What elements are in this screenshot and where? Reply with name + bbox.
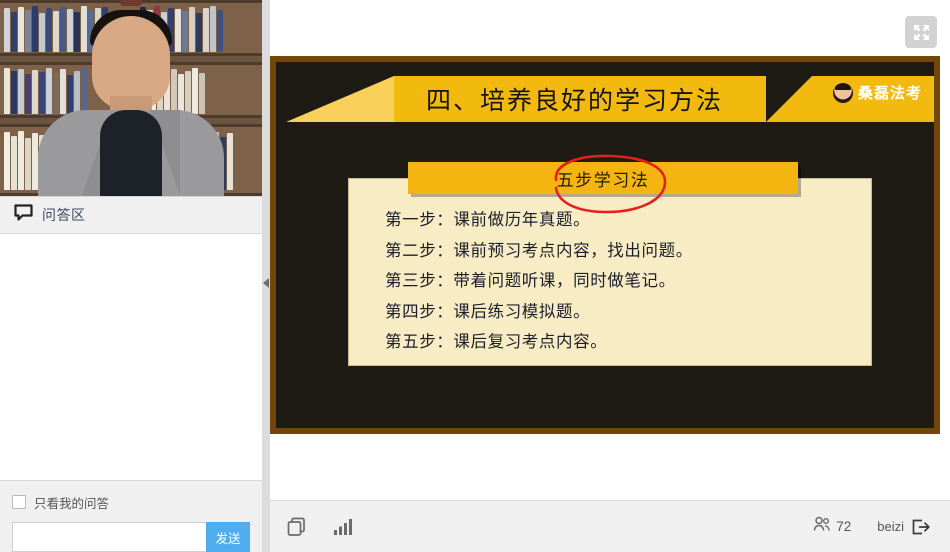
- brand-name: 桑磊法考: [858, 82, 922, 103]
- slide-subtitle: 五步学习法: [557, 166, 650, 191]
- qa-section-header: 问答区: [0, 196, 262, 234]
- people-icon: [813, 516, 831, 537]
- only-my-qa-label: 只看我的问答: [34, 493, 109, 512]
- presenter-figure: [36, 46, 226, 196]
- step-line: 第三步：带着问题听课，同时做笔记。: [385, 266, 871, 297]
- fullscreen-expand-icon[interactable]: [905, 16, 937, 48]
- title-banner-left-chevron: [286, 76, 394, 122]
- step-line: 第一步：课前做历年真题。: [385, 205, 871, 236]
- step-line: 第四步：课后练习模拟题。: [385, 297, 871, 328]
- step-line: 第五步：课后复习考点内容。: [385, 327, 871, 358]
- slide-subtitle-bar: 五步学习法: [408, 162, 798, 194]
- presenter-video[interactable]: [0, 0, 262, 196]
- slide-body: 四、培养良好的学习方法 桑磊法考 第一步：课前做历年真题。 第二步：课前预习考点…: [276, 62, 934, 428]
- slide-content-box: 第一步：课前做历年真题。 第二步：课前预习考点内容，找出问题。 第三步：带着问题…: [348, 178, 872, 366]
- current-user-name: beizi: [877, 519, 904, 534]
- speech-bubble-icon: [14, 204, 33, 226]
- logout-arrow-icon[interactable]: [911, 518, 930, 536]
- title-banner-right-notch: [766, 76, 812, 122]
- brand-avatar-icon: [833, 83, 853, 103]
- presenter-blazer: [38, 110, 224, 196]
- bottom-toolbar: 72 beizi: [270, 500, 950, 552]
- qa-message-list[interactable]: [0, 234, 262, 480]
- copy-pages-icon[interactable]: [286, 516, 307, 537]
- collapse-left-arrow-icon[interactable]: [263, 278, 269, 288]
- qa-footer: 只看我的问答 发送: [0, 480, 262, 552]
- stage-canvas: 四、培养良好的学习方法 桑磊法考 第一步：课前做历年真题。 第二步：课前预习考点…: [270, 0, 950, 500]
- filter-my-questions-row[interactable]: 只看我的问答: [12, 491, 250, 513]
- slide-title-banner: 四、培养良好的学习方法 桑磊法考: [276, 76, 934, 122]
- send-button[interactable]: 发送: [206, 522, 250, 552]
- qa-section-title: 问答区: [42, 205, 86, 225]
- step-line: 第二步：课前预习考点内容，找出问题。: [385, 236, 871, 267]
- presentation-stage: 四、培养良好的学习方法 桑磊法考 第一步：课前做历年真题。 第二步：课前预习考点…: [270, 0, 950, 552]
- qa-input-row: 发送: [12, 522, 250, 552]
- toolbar-right-group: 72 beizi: [813, 516, 930, 537]
- panel-divider: [262, 0, 270, 552]
- presenter-mouth: [120, 0, 142, 6]
- only-my-qa-checkbox[interactable]: [12, 495, 26, 509]
- sidebar: 问答区 只看我的问答 发送: [0, 0, 262, 552]
- slide-title: 四、培养良好的学习方法: [426, 76, 723, 122]
- brand-logo: 桑磊法考: [833, 82, 922, 103]
- current-user[interactable]: beizi: [877, 518, 930, 536]
- live-class-window: 问答区 只看我的问答 发送: [0, 0, 950, 552]
- participant-count-value: 72: [836, 519, 851, 534]
- signal-bars-icon[interactable]: [333, 517, 354, 536]
- toolbar-left-group: [286, 516, 354, 537]
- slide-frame[interactable]: 四、培养良好的学习方法 桑磊法考 第一步：课前做历年真题。 第二步：课前预习考点…: [270, 56, 940, 434]
- presenter-shirt: [100, 110, 162, 196]
- participant-count[interactable]: 72: [813, 516, 851, 537]
- qa-message-input[interactable]: [12, 522, 206, 552]
